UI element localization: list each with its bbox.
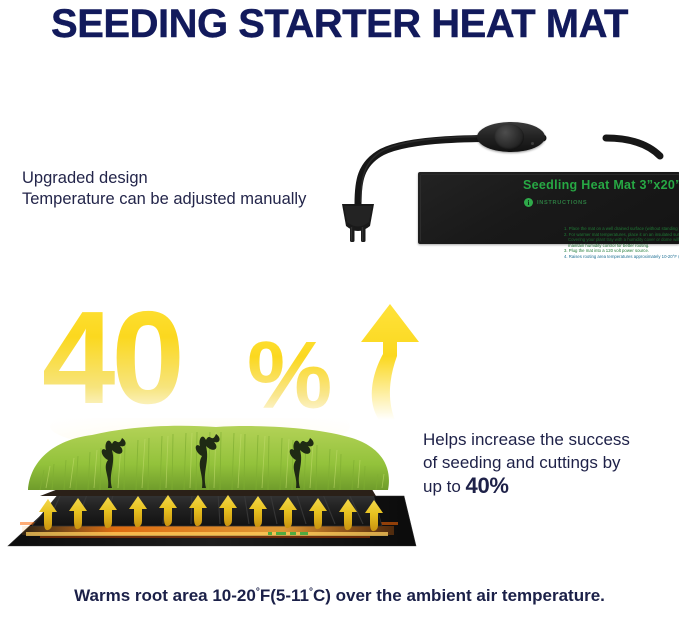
caption-part1: Warms root area 10-20 [74, 586, 256, 605]
hero-percent-sign: % [247, 328, 332, 424]
upgraded-design-line2: Temperature can be adjusted manually [22, 189, 306, 210]
temperature-dial-control[interactable] [477, 122, 545, 152]
bottom-caption: Warms root area 10-20°F(5-11°C) over the… [0, 586, 679, 606]
benefit-percent-value: 40% [466, 473, 509, 498]
benefit-upto-label: up to [423, 477, 466, 496]
instructions-list: 1. Place the mat on a well drained surfa… [524, 226, 679, 260]
heat-mat-body: Seedling Heat Mat 3”x20” i INSTRUCTIONS … [418, 172, 679, 244]
forty-percent-graphic: 40 % [42, 300, 422, 425]
heat-mat-label: Seedling Heat Mat 3”x20” [523, 178, 679, 192]
upgraded-design-text: Upgraded design Temperature can be adjus… [22, 168, 306, 210]
benefit-line1: Helps increase the success [423, 428, 630, 451]
caption-part3: C) over the ambient air temperature. [313, 586, 605, 605]
seedling-tray-illustration [0, 418, 420, 568]
instruction-item: 4. Raises rooting area temperatures appr… [564, 254, 679, 260]
product-image: Seedling Heat Mat 3”x20” i INSTRUCTIONS … [330, 100, 679, 265]
benefit-line3: up to 40% [423, 474, 630, 498]
instructions-header: i INSTRUCTIONS [524, 198, 587, 207]
instructions-header-label: INSTRUCTIONS [537, 200, 587, 206]
up-arrow-icon [327, 298, 437, 423]
hero-number: 40 [42, 292, 181, 424]
product-infographic: SEEDING STARTER HEAT MAT Upgraded design… [0, 0, 679, 619]
seed-tray-body [32, 486, 382, 526]
upgraded-design-line1: Upgraded design [22, 168, 306, 189]
caption-part2: F(5-11 [260, 586, 309, 605]
info-icon: i [524, 198, 533, 207]
page-title: SEEDING STARTER HEAT MAT [0, 2, 679, 47]
benefit-line2: of seeding and cuttings by [423, 451, 630, 474]
benefit-text: Helps increase the success of seeding an… [423, 428, 630, 498]
